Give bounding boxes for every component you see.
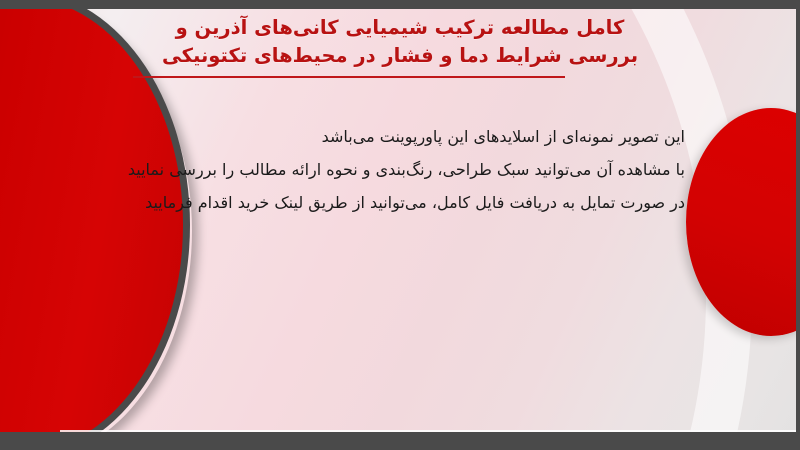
- body-line-1: این تصویر نمونه‌ای از اسلایدهای این پاور…: [100, 120, 685, 153]
- slide-frame-bottom: [0, 432, 800, 450]
- title-line-1: کامل مطالعه ترکیب شیمیایی کانی‌های آذرین…: [110, 14, 690, 42]
- title-line-2: بررسی شرایط دما و فشار در محیط‌های تکتون…: [110, 42, 690, 70]
- slide-body-text: این تصویر نمونه‌ای از اسلایدهای این پاور…: [100, 120, 685, 219]
- slide-title: کامل مطالعه ترکیب شیمیایی کانی‌های آذرین…: [110, 14, 690, 70]
- slide-frame-right: [796, 0, 800, 450]
- presentation-slide: کامل مطالعه ترکیب شیمیایی کانی‌های آذرین…: [0, 0, 800, 450]
- slide-frame-top: [0, 0, 800, 9]
- body-line-2: با مشاهده آن می‌توانید سبک طراحی، رنگ‌بن…: [100, 153, 685, 186]
- body-line-3: در صورت تمایل به دریافت فایل کامل، می‌تو…: [100, 186, 685, 219]
- title-underline-rule: [133, 76, 565, 78]
